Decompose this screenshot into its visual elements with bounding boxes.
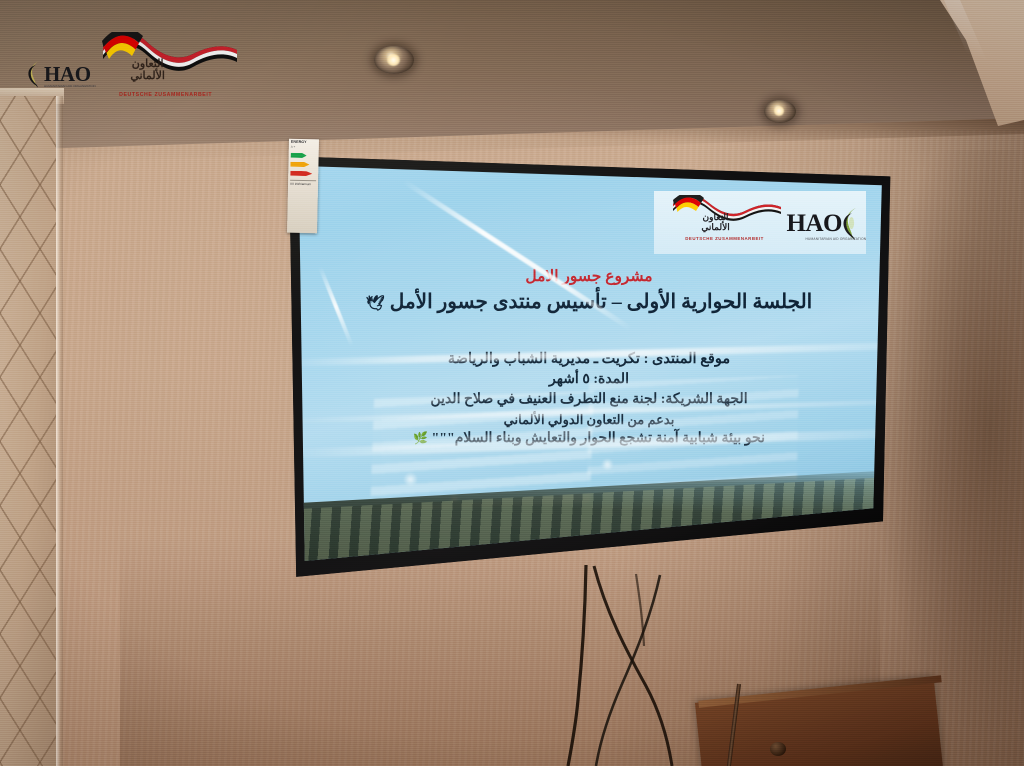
- downlight-bulb: [387, 54, 400, 66]
- session-title: الجلسة الحوارية الأولى – تأسيس منتدى جسو…: [284, 289, 894, 314]
- downlight-bulb: [774, 106, 784, 116]
- recessed-downlight-icon: [374, 46, 414, 74]
- hao-wordmark: HAO: [787, 211, 842, 236]
- watermark-hao-wordmark: HAO: [44, 64, 91, 85]
- photo-scene: HAO HUMANITARIAN AID ORGANIZATION: [0, 0, 1024, 766]
- energy-class-bar: [291, 153, 307, 158]
- hao-emblem-icon: [843, 207, 862, 241]
- energy-label-title: ENERGY: [291, 140, 317, 145]
- photo-watermark: HAO HUMANITARIAN AID ORGANIZATION التعاو…: [28, 22, 258, 114]
- energy-label-sticker: ENERGY A + XX kWh/annum: [287, 139, 319, 234]
- bokeh-highlight: [404, 473, 417, 486]
- line-venue: موقع المنتدى : تكريت ـ مديرية الشباب وال…: [284, 349, 894, 370]
- hao-emblem-icon: [28, 60, 44, 88]
- watermark-cooperation-arabic: التعاون الألماني: [117, 58, 179, 82]
- project-title: مشروع جسور الامل: [284, 267, 894, 286]
- window-reflection: [587, 375, 799, 486]
- energy-label-subtitle: A +: [291, 145, 317, 150]
- dove-icon: 🕊: [366, 296, 385, 312]
- decorative-stone-column: [0, 96, 56, 766]
- watermark-cooperation-german: DEUTSCHE ZUSAMMENARBEIT: [103, 92, 229, 98]
- recessed-downlight-icon: [764, 100, 796, 123]
- hao-logo: HAO HUMANITARIAN AID ORGANIZATION: [787, 207, 862, 241]
- energy-class-bar: [290, 171, 312, 176]
- table-knob: [770, 742, 786, 756]
- wall-mounted-television: HAO HUMANITARIAN AID ORGANIZATION: [284, 143, 894, 583]
- energy-class-bar: [290, 162, 309, 167]
- column-edge-highlight: [56, 96, 63, 766]
- cooperation-arabic-name: التعاون الألماني: [691, 212, 741, 232]
- german-cooperation-logo: التعاون الألماني DEUTSCHE ZUSAMMENARBEIT: [665, 194, 783, 252]
- bokeh-highlight: [602, 459, 613, 470]
- column-lattice-pattern: [0, 96, 56, 766]
- watermark-hao-logo: HAO HUMANITARIAN AID ORGANIZATION: [28, 60, 91, 88]
- energy-label-kwh: XX kWh/annum: [290, 180, 316, 187]
- hao-subtitle: HUMANITARIAN AID ORGANIZATION: [806, 237, 867, 241]
- watermark-cooperation-logo: التعاون الألماني DEUTSCHE ZUSAMMENARBEIT: [99, 28, 239, 108]
- slide-logo-band: HAO HUMANITARIAN AID ORGANIZATION: [654, 191, 866, 254]
- session-title-text: الجلسة الحوارية الأولى – تأسيس منتدى جسو…: [390, 291, 812, 313]
- watermark-hao-subtitle: HUMANITARIAN AID ORGANIZATION: [44, 84, 96, 88]
- cooperation-german-name: DEUTSCHE ZUSAMMENARBEIT: [679, 236, 771, 241]
